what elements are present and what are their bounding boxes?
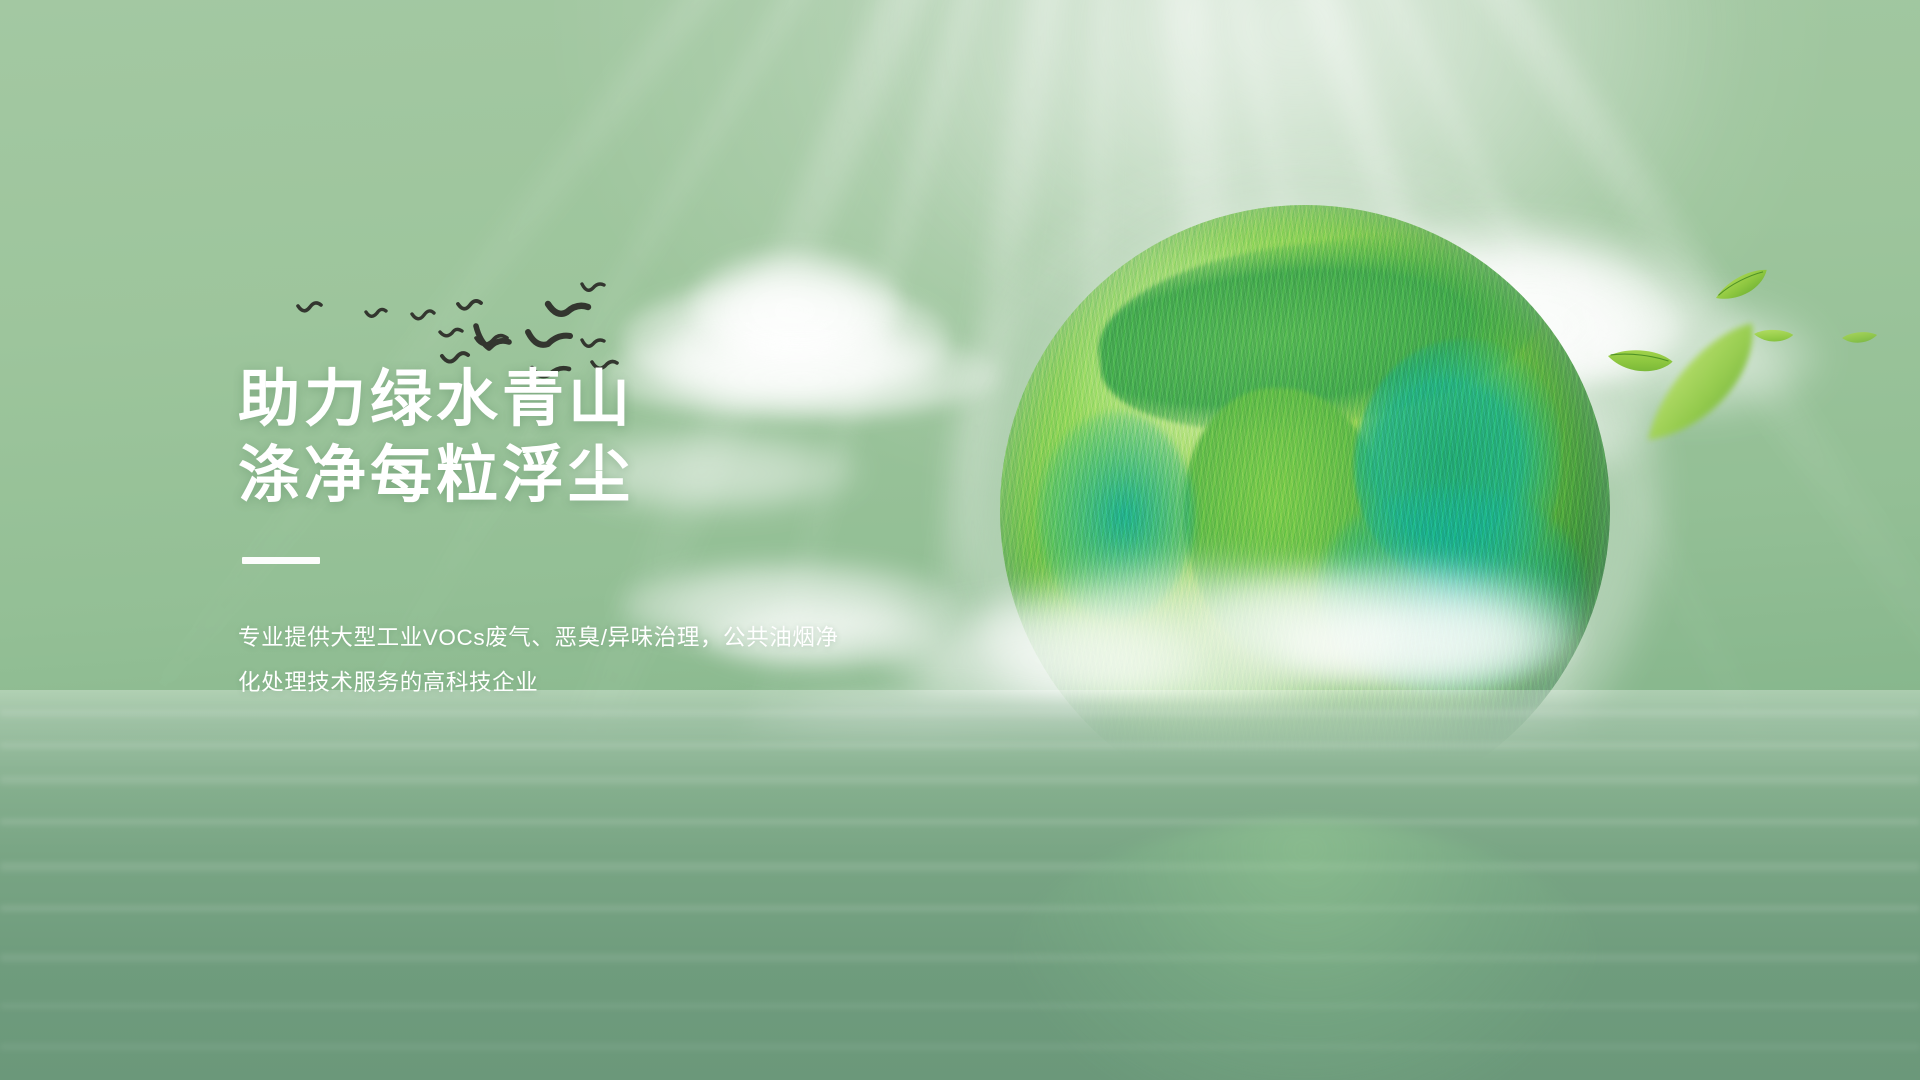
cloud-icon xyxy=(690,250,900,360)
headline-line-2: 涤净每粒浮尘 xyxy=(238,438,958,514)
leaf-icon xyxy=(1753,323,1793,347)
water-sheen xyxy=(0,690,1920,860)
bird-icon xyxy=(442,353,468,361)
water-ripple xyxy=(0,860,1920,874)
bird-icon xyxy=(366,309,386,316)
bird-icon xyxy=(458,301,481,309)
leaf-icon xyxy=(1606,337,1673,384)
subtitle-line-1: 专业提供大型工业VOCs废气、恶臭/异味治理，公共油烟净 xyxy=(238,616,898,661)
water-ripple xyxy=(0,742,1920,749)
bird-icon xyxy=(582,284,604,290)
subtitle-block: 专业提供大型工业VOCs废气、恶臭/异味治理，公共油烟净 化处理技术服务的高科技… xyxy=(238,616,898,705)
bird-icon xyxy=(412,311,434,319)
water-ripple xyxy=(0,952,1920,964)
bird-icon xyxy=(528,332,570,345)
bird-icon xyxy=(440,329,462,335)
bird-icon xyxy=(582,340,604,346)
water-surface xyxy=(0,690,1920,1080)
leaves-svg xyxy=(1600,240,1920,660)
water-ripple xyxy=(0,1042,1920,1052)
headline-divider xyxy=(242,557,320,564)
hero-copy-block: 助力绿水青山 涤净每粒浮尘 专业提供大型工业VOCs废气、恶臭/异味治理，公共油… xyxy=(238,362,958,705)
water-ripple xyxy=(0,818,1920,826)
bird-icon xyxy=(548,304,588,314)
water-ripple xyxy=(0,774,1920,786)
leaf-icon xyxy=(1622,319,1780,448)
leaf-icon xyxy=(1842,328,1878,346)
floating-leaves-decoration xyxy=(1600,240,1920,660)
water-ripple xyxy=(0,1002,1920,1010)
headline-line-1: 助力绿水青山 xyxy=(238,362,958,438)
water-ripple xyxy=(0,708,1920,718)
water-ripple xyxy=(0,904,1920,913)
bird-icon xyxy=(476,336,507,345)
leaf-icon xyxy=(1712,268,1771,302)
hero-banner: 助力绿水青山 涤净每粒浮尘 专业提供大型工业VOCs废气、恶臭/异味治理，公共油… xyxy=(0,0,1920,1080)
subtitle-line-2: 化处理技术服务的高科技企业 xyxy=(238,661,898,706)
bird-icon xyxy=(476,326,509,348)
bird-icon xyxy=(298,303,321,311)
